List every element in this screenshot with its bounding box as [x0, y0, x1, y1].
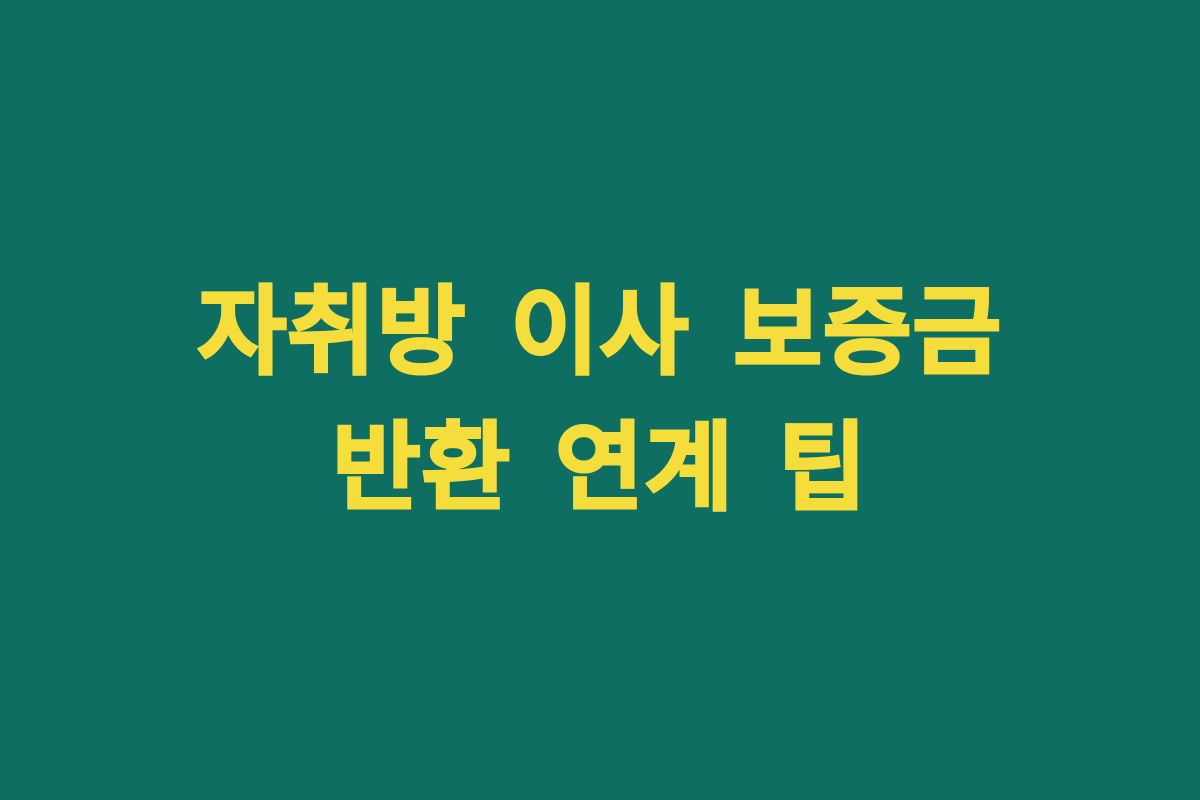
- title-card: 자취방 이사 보증금 반환 연계 팁: [0, 0, 1200, 800]
- title-text-container: 자취방 이사 보증금 반환 연계 팁: [120, 264, 1080, 537]
- page-title: 자취방 이사 보증금 반환 연계 팁: [120, 264, 1080, 537]
